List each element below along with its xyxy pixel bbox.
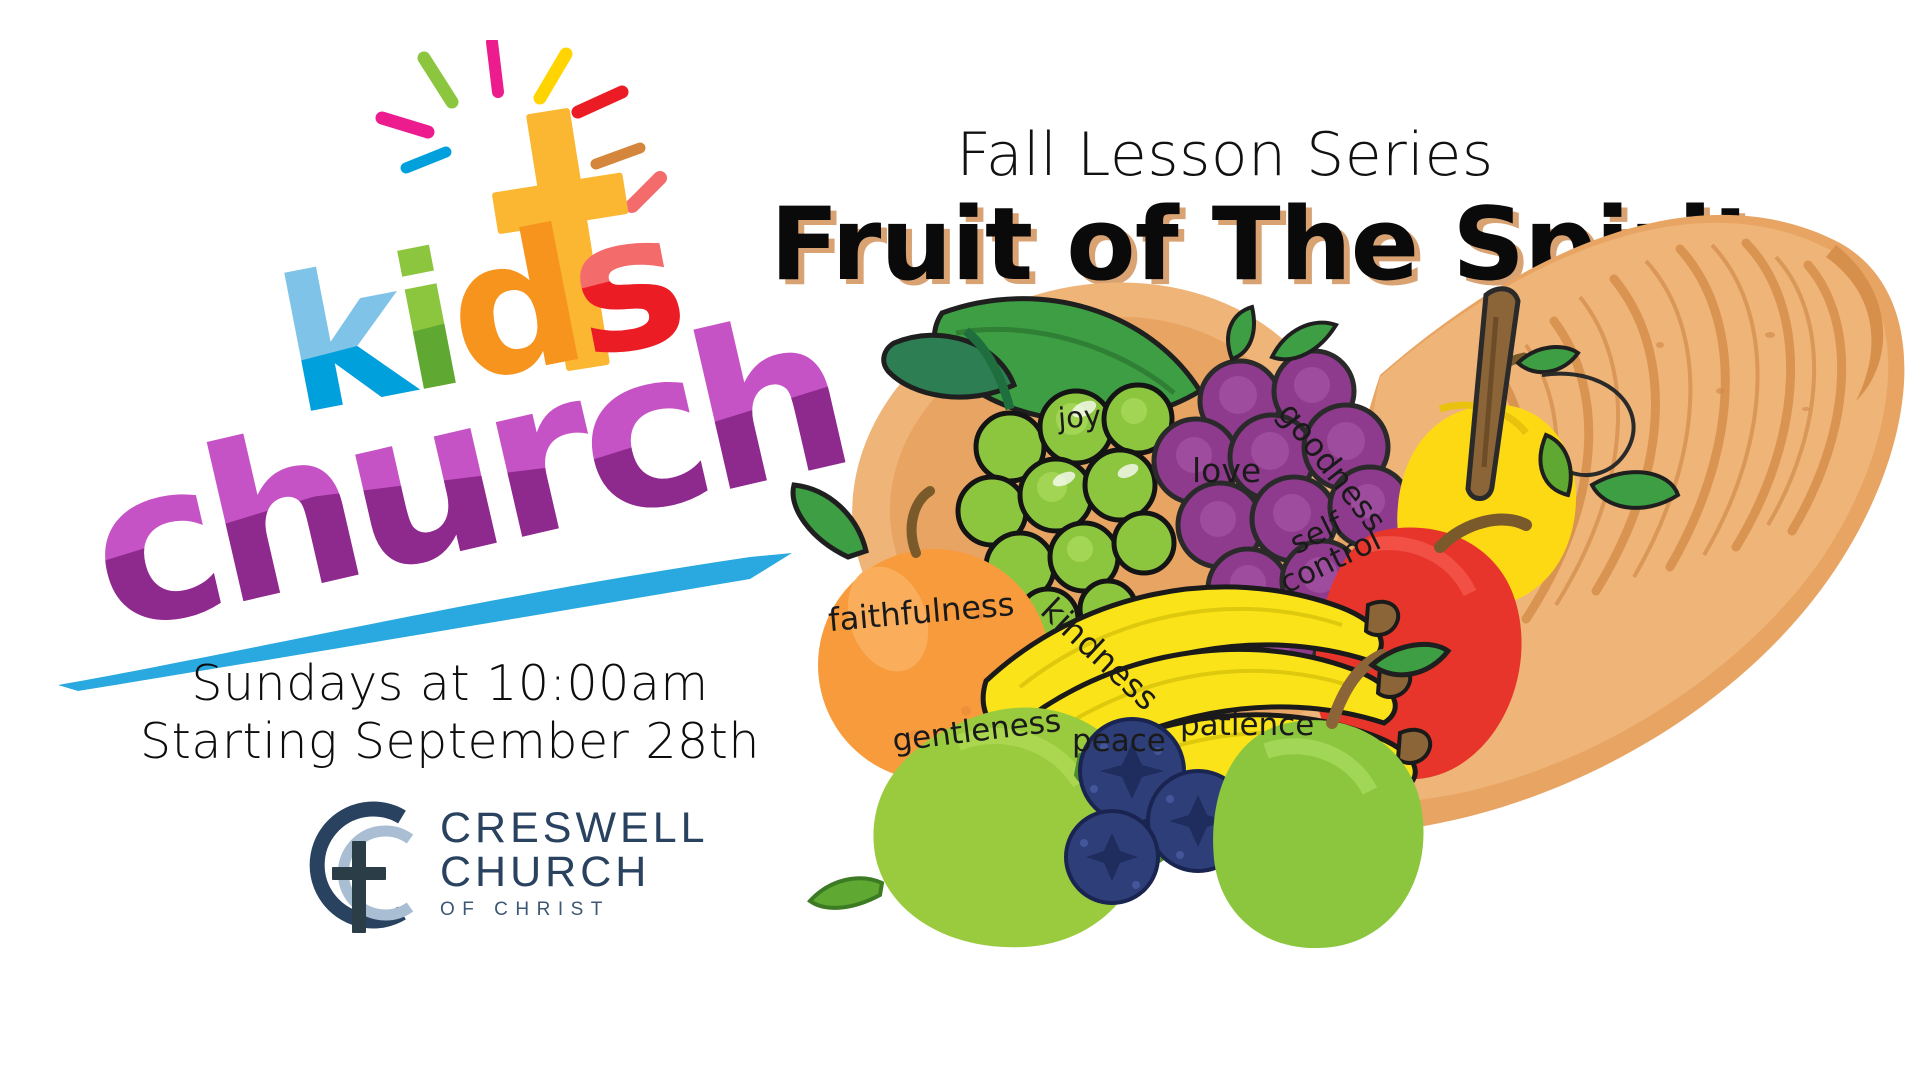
right-panel: Fall Lesson Series Fruit of The Spirit <box>790 0 1920 1080</box>
cornucopia-svg <box>680 195 1910 955</box>
cornucopia-illustration: joy love goodness self control faithfuln… <box>680 195 1910 955</box>
poster-canvas: kids kids church church Sundays at 10:00… <box>0 0 1920 1080</box>
headline-subtitle: Fall Lesson Series <box>790 120 1660 190</box>
creswell-church-logo: CRESWELL CHURCH OF CHRIST <box>290 795 720 935</box>
creswell-monogram-icon <box>290 795 430 935</box>
